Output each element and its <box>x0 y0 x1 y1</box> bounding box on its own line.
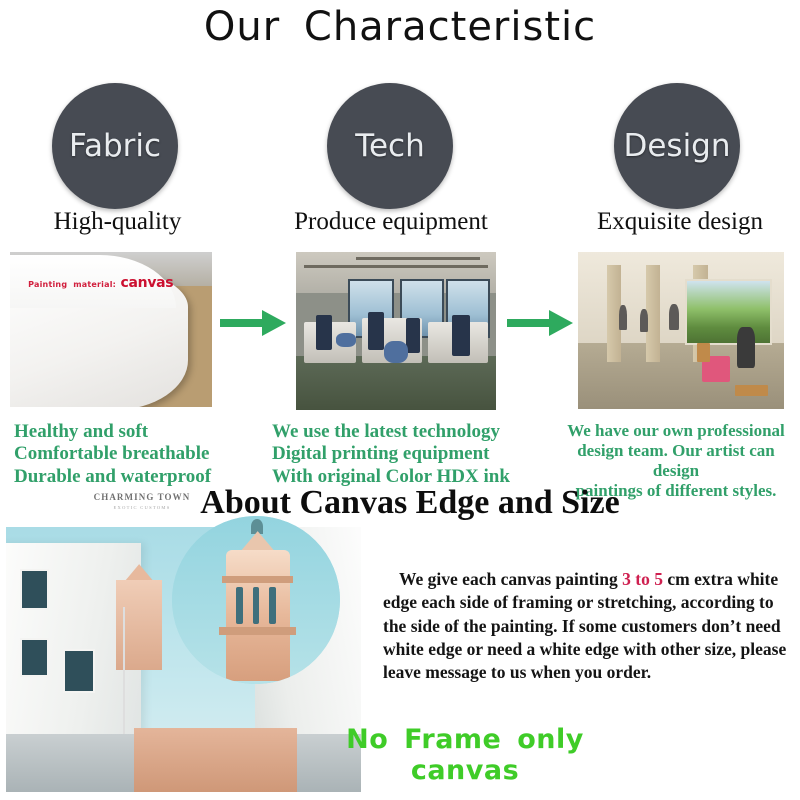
arrow-fabric-to-tech <box>218 306 288 340</box>
no-frame-notice: No Frame only canvas <box>300 724 630 786</box>
canvas-edge-paragraph: We give each canvas painting 3 to 5 cm e… <box>383 568 795 684</box>
printing-workshop-photo <box>296 252 496 410</box>
studio-stool <box>697 343 709 362</box>
landscape-painting-on-wall <box>685 279 771 346</box>
feature-circle-tech: Tech <box>327 83 453 209</box>
studio-scene-art <box>578 252 784 409</box>
paragraph-part-1: We give each canvas painting <box>399 569 622 589</box>
feature-circle-fabric: Fabric <box>52 83 178 209</box>
studio-person <box>619 305 627 330</box>
canvas-caption-big: canvas <box>121 275 174 291</box>
studio-person <box>640 309 648 333</box>
feature-description-fabric: Healthy and soft Comfortable breathable … <box>14 421 274 488</box>
studio-pillar <box>646 265 660 362</box>
tower-column <box>269 587 276 624</box>
terracotta-wall <box>134 728 297 792</box>
street-lamp-post <box>123 607 125 745</box>
building-window <box>20 569 49 610</box>
circle-label-tech: Tech <box>355 128 424 164</box>
feature-sublabel-produce-equipment: Produce equipment <box>255 208 527 236</box>
canvas-scene-art: Painting material: canvas <box>10 252 212 407</box>
studio-bench <box>735 385 768 396</box>
product-description-banner: Our Characteristic Fabric Tech Design Hi… <box>0 0 800 800</box>
canvas-sheet-photo: Painting material: canvas <box>10 252 212 407</box>
print-head <box>368 312 384 350</box>
ceiling-beam <box>356 257 480 260</box>
tower-column <box>236 587 243 624</box>
bell-tower-magnifier <box>172 516 340 684</box>
arrow-right-icon <box>218 306 288 340</box>
arrow-right-icon <box>505 306 575 340</box>
canvas-caption-small: Painting material: <box>28 280 116 289</box>
circle-label-design: Design <box>623 128 730 164</box>
building-window <box>20 638 49 676</box>
circle-label-fabric: Fabric <box>69 128 161 164</box>
page-title: Our Characteristic <box>0 4 800 50</box>
artist-figure <box>737 327 756 368</box>
arrow-tech-to-design <box>505 306 575 340</box>
feature-circle-design: Design <box>614 83 740 209</box>
canvas-photo-caption: Painting material: canvas <box>28 275 173 291</box>
factory-floor <box>296 356 496 410</box>
feature-sublabel-high-quality: High-quality <box>0 208 235 236</box>
fabric-roll <box>336 333 356 347</box>
fabric-roll <box>384 341 408 363</box>
tower-cornice <box>222 576 293 583</box>
feature-description-tech: We use the latest technology Digital pri… <box>272 421 542 488</box>
feature-sublabel-exquisite-design: Exquisite design <box>560 208 800 236</box>
tower-column <box>253 587 260 624</box>
paragraph-highlight-measure: 3 to 5 <box>622 569 663 589</box>
print-head <box>316 315 332 350</box>
ceiling-beam <box>304 265 488 268</box>
tower-cornice <box>219 627 296 635</box>
factory-scene-art <box>296 252 496 410</box>
studio-person <box>669 304 679 331</box>
art-studio-photo <box>578 252 784 409</box>
print-head <box>406 318 420 353</box>
building-window <box>63 649 95 693</box>
print-head <box>452 315 470 356</box>
